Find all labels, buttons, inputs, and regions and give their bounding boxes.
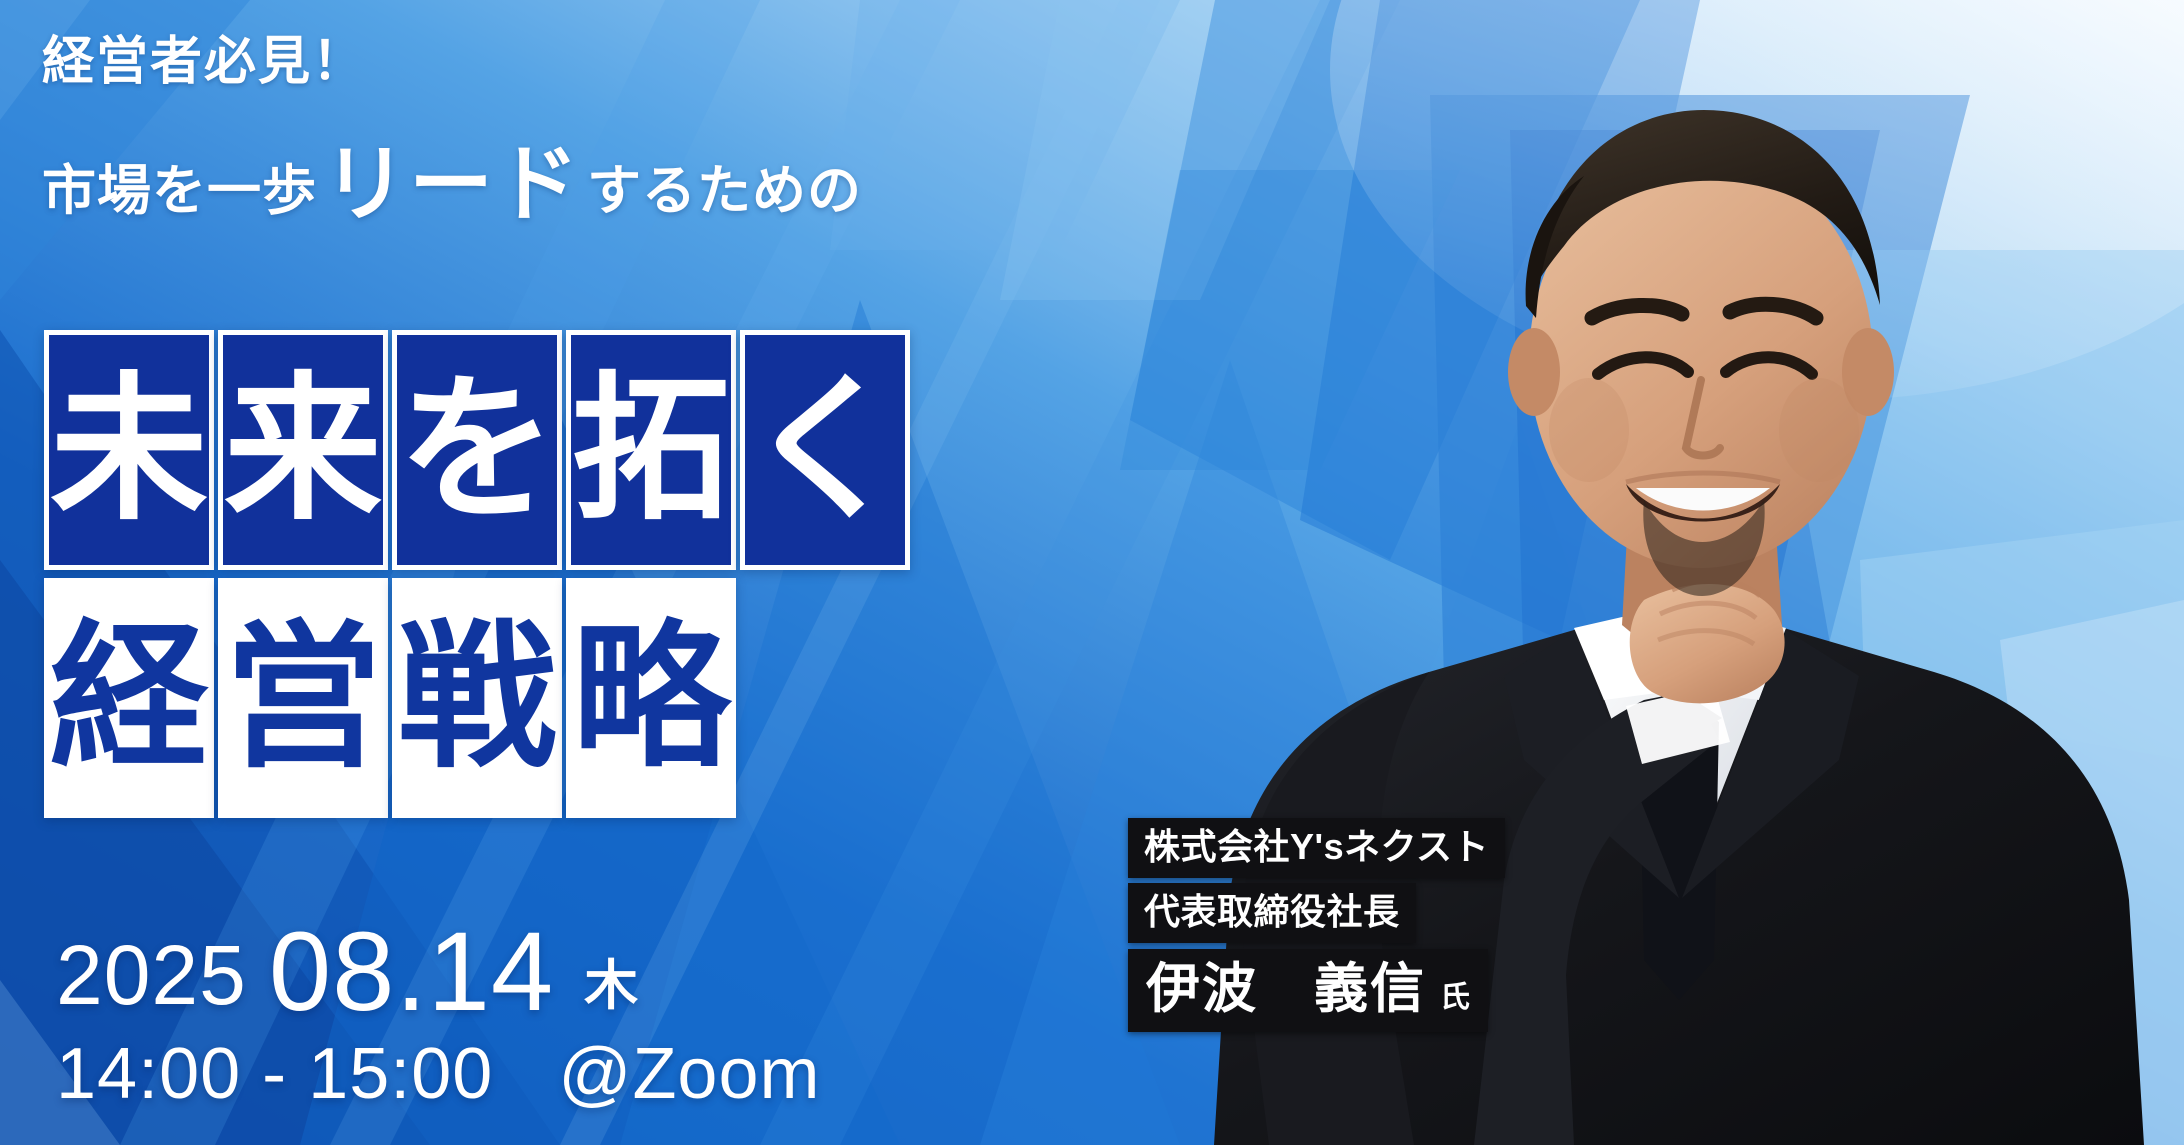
schedule-block: 2025 08.14 木 14:00 - 15:00 @Zoom [56,910,821,1110]
title-char-box: 営 [218,578,388,818]
webinar-banner: 経営者必見！ 市場を一歩 リード するための 未 来 を 拓 く 経 営 戦 略… [0,0,2184,1145]
title-char-box: 経 [44,578,214,818]
title-char-box: く [740,330,910,570]
title-char-box: 来 [218,330,388,570]
title-row-one: 未 来 を 拓 く [44,330,910,570]
sub-headline-after: するための [587,164,862,218]
event-time-venue: 14:00 - 15:00 @Zoom [56,1038,821,1110]
event-day-of-week: 木 [584,959,638,1013]
title-row-two: 経 営 戦 略 [44,578,736,818]
event-month-day: 08.14 [269,916,554,1028]
speaker-info: 株式会社Y'sネクスト 代表取締役社長 伊波 義信氏 [1128,818,1505,1032]
speaker-company: 株式会社Y'sネクスト [1128,818,1505,878]
speaker-company-row: 株式会社Y'sネクスト [1128,818,1505,878]
title-char-box: 略 [566,578,736,818]
speaker-name: 伊波 義信 [1146,959,1426,1019]
event-venue: @Zoom [558,1034,820,1114]
event-time: 14:00 - 15:00 [56,1034,493,1114]
kicker-text: 経営者必見！ [42,36,366,88]
speaker-honorific: 氏 [1440,981,1470,1014]
title-char-box: 戦 [392,578,562,818]
speaker-role-row: 代表取締役社長 [1128,878,1505,943]
title-char-box: を [392,330,562,570]
speaker-role: 代表取締役社長 [1128,883,1416,943]
sub-headline-before: 市場を一歩 [42,164,317,218]
title-char-box: 未 [44,330,214,570]
sub-headline-emphasis: リード [317,142,587,226]
sub-headline: 市場を一歩 リード するための [42,138,862,222]
speaker-name-row: 伊波 義信氏 [1128,943,1505,1032]
event-date: 2025 08.14 木 [56,910,821,1022]
title-char-box: 拓 [566,330,736,570]
speaker-name-badge: 伊波 義信氏 [1128,949,1488,1032]
event-year: 2025 [56,933,247,1017]
